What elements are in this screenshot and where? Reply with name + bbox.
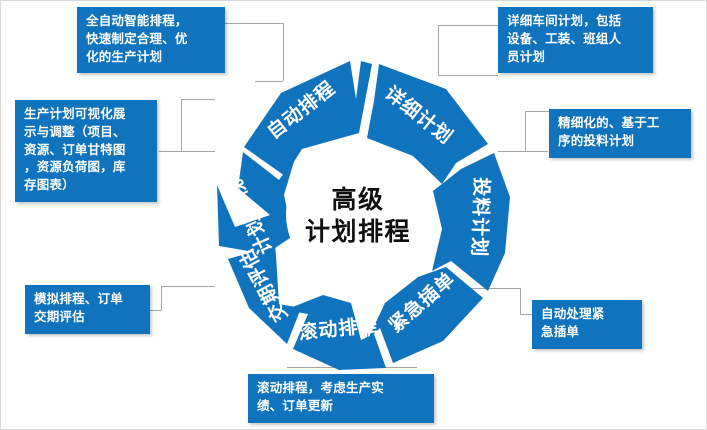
callout-line: 急插单 [541, 324, 634, 342]
callout-line: 生产计划可视化展 [24, 106, 149, 124]
callout-line: 资源、订单甘特图 [24, 142, 149, 160]
callout-line: 快速制定合理、优 [86, 31, 217, 49]
segment-label-material-release-plan: 投料计划 [468, 177, 494, 258]
callout-line: 滚动排程，考虑生产实 [257, 380, 426, 398]
wheel-hub [286, 142, 430, 286]
callout-line: 全自动智能排程， [86, 13, 217, 31]
connector-auto-scheduling-h1 [225, 23, 283, 24]
callout-line: 详细车间计划，包括 [507, 13, 645, 31]
connector-due-date-v [161, 286, 162, 310]
callout-line: ，资源负荷图，库 [24, 159, 149, 177]
connector-material-release-h2 [525, 111, 549, 112]
callout-line: 序的投料计划 [558, 133, 683, 151]
connector-plan-visualization-v [181, 99, 182, 151]
center-title-line1: 高级 [331, 185, 384, 214]
callout-line: 化的生产计划 [86, 49, 217, 67]
callout-detailed-plan[interactable]: 详细车间计划，包括 设备、工装、班组人 员计划 [498, 7, 653, 73]
callout-line: 存图表） [24, 177, 149, 195]
callout-material-release-plan[interactable]: 精细化的、基于工 序的投料计划 [549, 109, 691, 158]
callout-line: 模拟排程、订单 [34, 291, 142, 309]
segment-urgent-insert-order [367, 267, 483, 363]
callout-line: 员计划 [507, 49, 645, 67]
callout-rolling-scheduling[interactable]: 滚动排程，考虑生产实 绩、订单更新 [248, 374, 434, 423]
callout-line: 精细化的、基于工 [558, 115, 683, 133]
callout-auto-scheduling[interactable]: 全自动智能排程， 快速制定合理、优 化的生产计划 [77, 7, 225, 73]
callout-line: 示与调整（项目、 [24, 124, 149, 142]
connector-detailed-plan-h1 [438, 25, 498, 26]
callout-line: 自动处理紧 [541, 306, 634, 324]
callout-line: 绩、订单更新 [257, 398, 426, 416]
diagram-canvas: 自动排程 详细计划 投料计划 紧急插单 滚动排程 交期评估 计划可视化 高级 计… [0, 0, 707, 430]
callout-line: 交期评估 [34, 309, 142, 327]
callout-due-date-evaluation[interactable]: 模拟排程、订单 交期评估 [25, 285, 150, 334]
center-title-line2: 计划排程 [305, 218, 411, 246]
callout-plan-visualization[interactable]: 生产计划可视化展 示与调整（项目、 资源、订单甘特图 ，资源负荷图，库 存图表） [15, 100, 157, 202]
cycle-wheel: 自动排程 详细计划 投料计划 紧急插单 滚动排程 交期评估 计划可视化 高级 计… [189, 45, 527, 383]
callout-line: 设备、工装、班组人 [507, 31, 645, 49]
callout-urgent-insert-order[interactable]: 自动处理紧 急插单 [532, 300, 642, 349]
